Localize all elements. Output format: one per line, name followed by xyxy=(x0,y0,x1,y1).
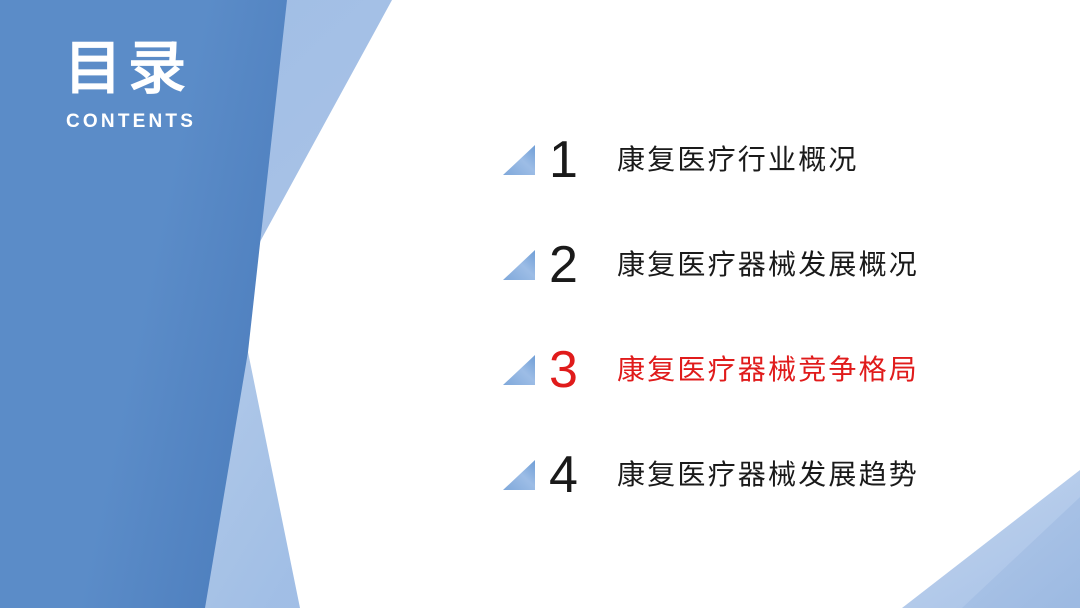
triangle-marker-icon xyxy=(503,460,535,490)
toc-label: 康复医疗器械发展趋势 xyxy=(617,458,1043,492)
triangle-marker-icon xyxy=(503,250,535,280)
toc-item-2[interactable]: 2 康复医疗器械发展概况 xyxy=(503,229,1043,301)
toc-number: 4 xyxy=(549,449,607,501)
triangle-marker-icon xyxy=(503,145,535,175)
title-block: 目录 CONTENTS xyxy=(62,38,362,133)
table-of-contents: 1 康复医疗行业概况 2 康复医疗器械发展概况 3 康复医疗器械竞争格局 4 康… xyxy=(503,124,1043,511)
page-subtitle: CONTENTS xyxy=(66,111,362,133)
toc-label: 康复医疗器械竞争格局 xyxy=(617,353,1043,387)
toc-item-3[interactable]: 3 康复医疗器械竞争格局 xyxy=(503,334,1043,406)
toc-item-1[interactable]: 1 康复医疗行业概况 xyxy=(503,124,1043,196)
toc-number: 3 xyxy=(549,344,607,396)
toc-number: 2 xyxy=(549,239,607,291)
toc-label: 康复医疗器械发展概况 xyxy=(617,248,1043,282)
slide-canvas: 目录 CONTENTS 1 康复医疗行业概况 2 康复医疗器械发展概况 3 xyxy=(0,0,1080,608)
page-title: 目录 xyxy=(64,38,362,101)
toc-item-4[interactable]: 4 康复医疗器械发展趋势 xyxy=(503,439,1043,511)
toc-label: 康复医疗行业概况 xyxy=(617,143,1043,177)
triangle-marker-icon xyxy=(503,355,535,385)
toc-number: 1 xyxy=(549,134,607,186)
